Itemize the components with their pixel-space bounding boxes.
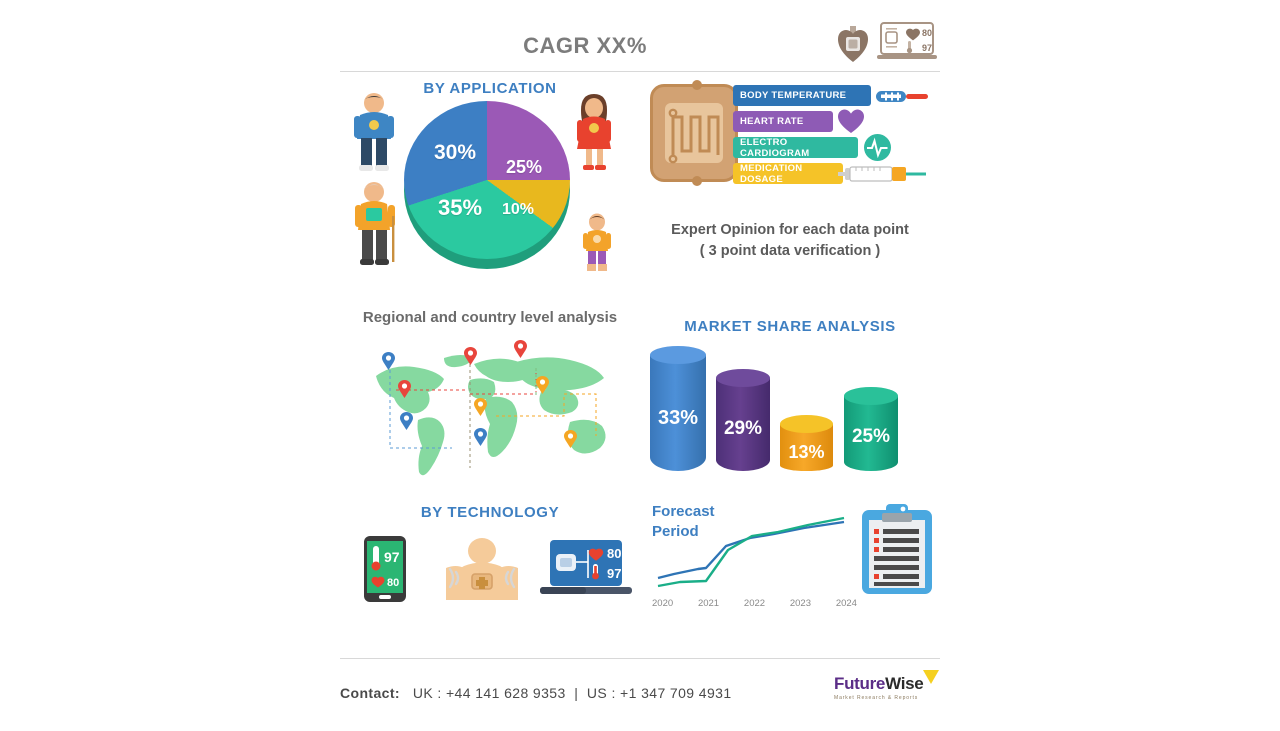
- chip-inner: [665, 103, 723, 163]
- bar-cap-3: [780, 415, 833, 433]
- content-grid: BY APPLICATION: [340, 72, 940, 658]
- sensor-bar-electro-cardiogram: ELECTRO CARDIOGRAM: [733, 137, 858, 158]
- svg-text:97: 97: [607, 566, 621, 581]
- application-pie-chart: 30% 25% 10% 35%: [402, 97, 574, 279]
- ecg-pulse-icon: [864, 134, 891, 161]
- market-share-bar-chart: 33% 29% 13% 25%: [646, 341, 934, 471]
- svg-text:97: 97: [922, 43, 932, 53]
- market-share-title: MARKET SHARE ANALYSIS: [640, 318, 940, 335]
- by-application-section: BY APPLICATION: [340, 72, 640, 298]
- us-label: US :: [587, 685, 616, 701]
- world-map: [366, 350, 614, 486]
- market-share-section: MARKET SHARE ANALYSIS 33% 29% 13% 25%: [640, 298, 940, 494]
- map-pin-europe: [464, 347, 477, 365]
- technology-icon-row: 97 80: [352, 536, 628, 614]
- chip-tab-top: [692, 80, 702, 90]
- circuit-trace-icon: [665, 103, 729, 169]
- year-2024: 2024: [836, 598, 857, 609]
- bar-company-1: 33%: [650, 355, 706, 471]
- logo-wordmark: FutureWise: [834, 674, 938, 694]
- svg-text:80: 80: [922, 28, 932, 38]
- person-senior-male-icon: [352, 180, 398, 268]
- chip-tab-bottom: [692, 176, 702, 186]
- logo-tagline: Market Research & Reports: [834, 695, 938, 701]
- sensor-panel-section: BODY TEMPERATURE HEART RATE ELECTRO CARD…: [640, 72, 940, 298]
- uk-label: UK :: [413, 685, 442, 701]
- uk-phone[interactable]: +44 141 628 9353: [446, 685, 566, 701]
- futurewise-logo[interactable]: FutureWise Market Research & Reports: [834, 674, 938, 701]
- person-adult-male-icon: [352, 92, 396, 172]
- bar-company-2: 29%: [716, 378, 770, 471]
- contact-label: Contact:: [340, 685, 400, 701]
- bar-company-4: 25%: [844, 396, 898, 471]
- bar-value-2: 29%: [716, 418, 770, 440]
- heart-device-icon: [838, 26, 868, 62]
- map-pin-asia: [536, 376, 549, 394]
- regional-analysis-section: Regional and country level analysis: [340, 298, 640, 494]
- expert-line-2: ( 3 point data verification ): [640, 241, 940, 262]
- pie-disc: [404, 101, 570, 259]
- laptop-monitor-icon: 80 97: [540, 540, 632, 600]
- bar-cap-1: [650, 346, 706, 364]
- heart-icon: [838, 108, 864, 134]
- header-icon-group: 80 97: [838, 22, 937, 62]
- page-footer: Contact: UK : +44 141 628 9353 | US : +1…: [340, 658, 940, 731]
- logo-swoosh-icon: [922, 669, 940, 685]
- pie-label-30: 30%: [434, 141, 476, 165]
- forecast-line-chart: [654, 516, 854, 594]
- clipboard-checklist-icon: [862, 504, 932, 594]
- year-2021: 2021: [698, 598, 719, 609]
- forecast-year-axis: 2020 2021 2022 2023 2024: [652, 598, 857, 609]
- logo-secondary: Wise: [885, 674, 923, 693]
- map-pin-north-america-south: [398, 380, 411, 398]
- regional-analysis-title: Regional and country level analysis: [340, 308, 640, 328]
- logo-primary: Future: [834, 674, 885, 693]
- person-adult-female-icon: [572, 92, 616, 172]
- footer-divider: [340, 658, 940, 659]
- year-2022: 2022: [744, 598, 765, 609]
- thermometer-icon: [876, 87, 930, 105]
- page-title: CAGR XX%: [340, 33, 830, 59]
- sensor-bar-heart-rate: HEART RATE: [733, 111, 833, 132]
- body-wearable-sensor-icon: [434, 538, 530, 600]
- expert-opinion-text: Expert Opinion for each data point ( 3 p…: [640, 220, 940, 261]
- by-technology-section: BY TECHNOLOGY 97 80: [340, 494, 640, 658]
- bar-cap-4: [844, 387, 898, 405]
- map-pin-southern-africa: [474, 428, 487, 446]
- svg-text:97: 97: [384, 549, 400, 565]
- map-pin-north-america-west: [382, 352, 395, 370]
- pie-label-25: 25%: [506, 157, 542, 178]
- svg-text:80: 80: [387, 577, 399, 589]
- svg-text:80: 80: [607, 546, 621, 561]
- contact-separator: |: [574, 685, 578, 701]
- person-child-icon: [580, 212, 614, 274]
- laptop-vitals-icon: 80 97: [877, 22, 937, 62]
- sensor-bar-body-temperature: BODY TEMPERATURE: [733, 85, 871, 106]
- bar-value-4: 25%: [844, 426, 898, 448]
- pie-label-10: 10%: [502, 201, 534, 219]
- year-2023: 2023: [790, 598, 811, 609]
- page-header: CAGR XX% 80 97: [340, 0, 940, 72]
- bar-cap-2: [716, 369, 770, 387]
- year-2020: 2020: [652, 598, 673, 609]
- bar-company-3: 13%: [780, 424, 833, 471]
- pie-label-35: 35%: [438, 195, 482, 221]
- map-pin-russia: [514, 340, 527, 358]
- map-pin-oceania: [564, 430, 577, 448]
- forecast-section: Forecast Period 2020 2021 2022 2023 2024: [640, 494, 940, 658]
- by-technology-title: BY TECHNOLOGY: [340, 504, 640, 521]
- map-pin-south-america: [400, 412, 413, 430]
- infographic-page: CAGR XX% 80 97: [340, 0, 940, 731]
- bar-value-3: 13%: [780, 442, 833, 463]
- us-phone[interactable]: +1 347 709 4931: [620, 685, 732, 701]
- map-pin-africa: [474, 398, 487, 416]
- sensor-bar-medication-dosage: MEDICATION DOSAGE: [733, 163, 843, 184]
- flexible-sensor-chip-icon: [650, 84, 738, 182]
- bar-value-1: 33%: [650, 407, 706, 430]
- contact-line: Contact: UK : +44 141 628 9353 | US : +1…: [340, 685, 732, 701]
- smartphone-monitor-icon: 97 80: [364, 536, 406, 602]
- expert-line-1: Expert Opinion for each data point: [640, 220, 940, 241]
- syringe-icon: [838, 164, 930, 184]
